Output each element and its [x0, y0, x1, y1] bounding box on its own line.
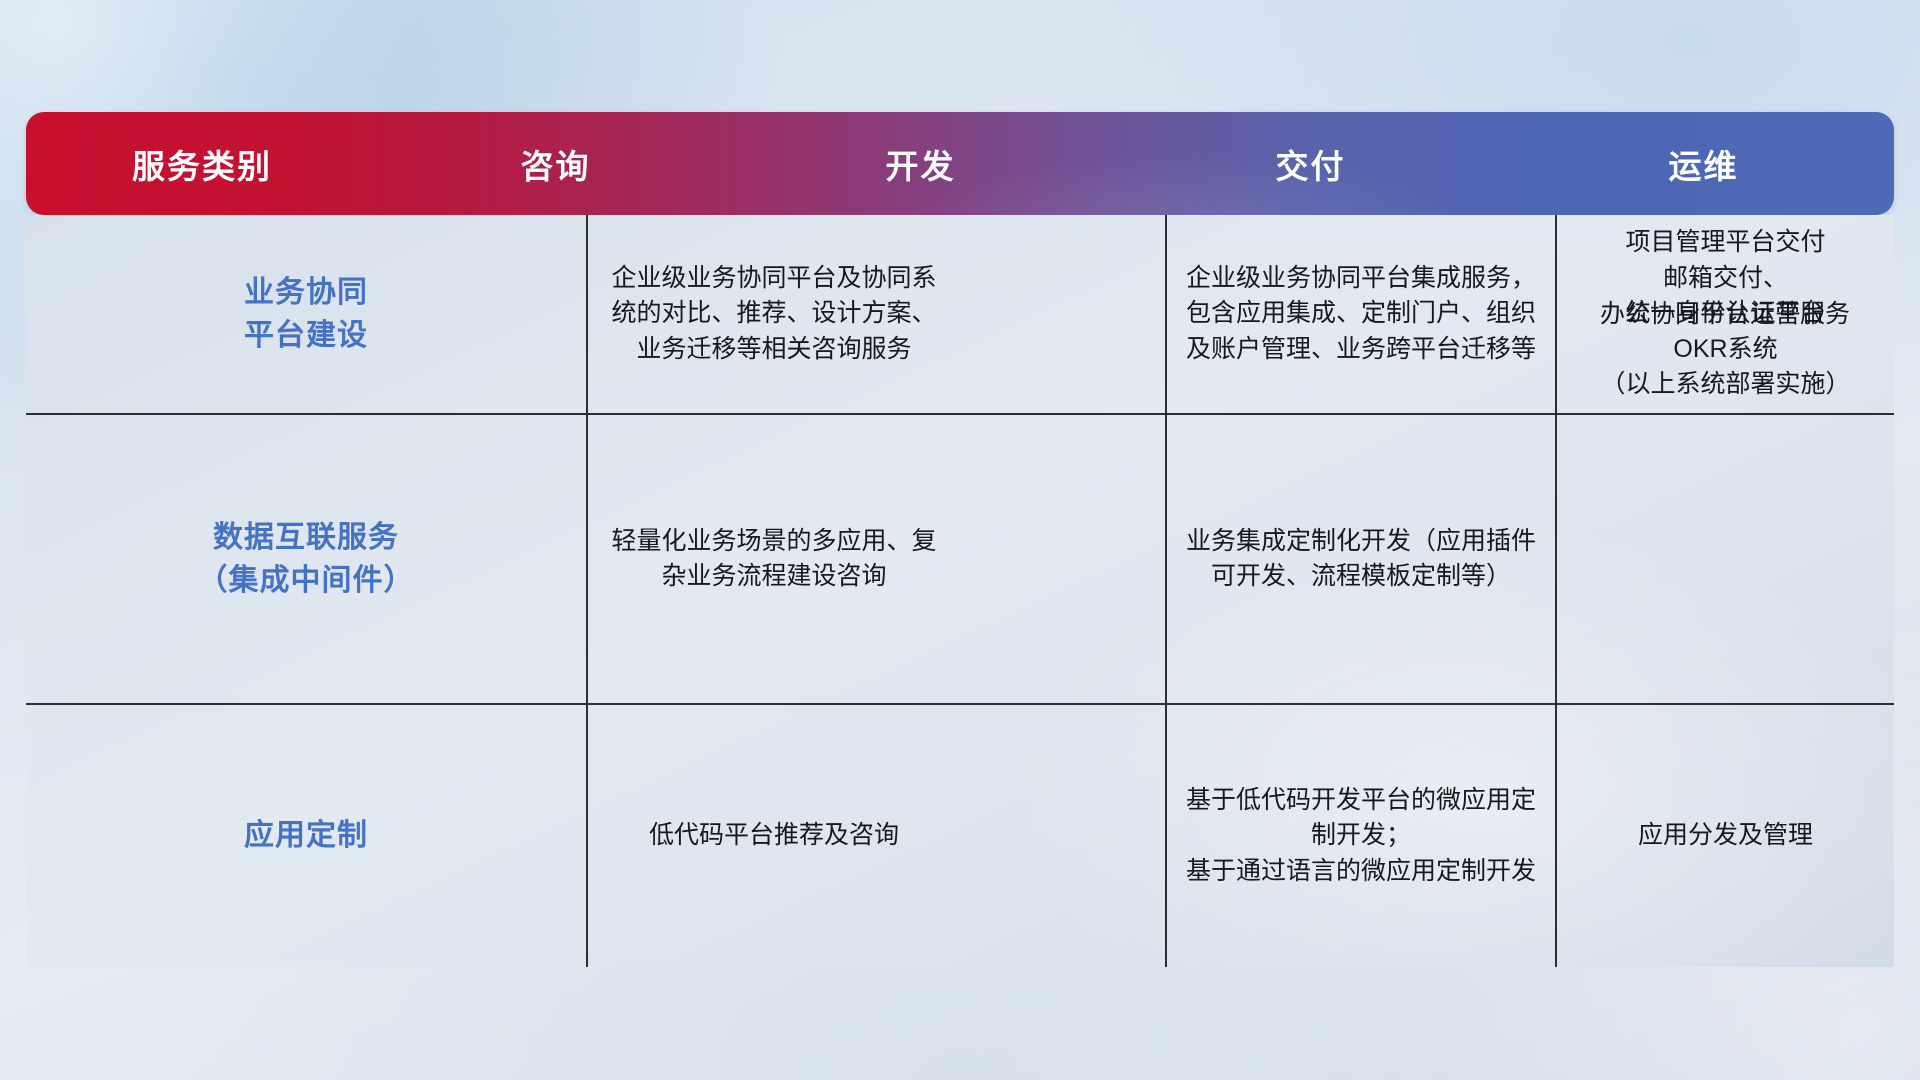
- table-header-row: 服务类别 咨询 开发 交付 运维: [26, 112, 1894, 215]
- row-category-label: 数据互联服务 （集成中间件）: [26, 415, 586, 703]
- column-header-consulting: 咨询: [378, 140, 733, 188]
- slide-canvas: 服务类别 咨询 开发 交付 运维 业务协同 平台建设 企业级业务协同平台及协同系…: [0, 0, 1920, 1080]
- row-category-label: 应用定制: [26, 705, 586, 967]
- cell-development: 业务集成定制化开发（应用插件 可开发、流程模板定制等）: [1165, 415, 1555, 703]
- column-header-operations: 运维: [1513, 140, 1894, 188]
- cell-development-spacer: [960, 705, 1165, 967]
- cell-development: 基于低代码开发平台的微应用定 制开发； 基于通过语言的微应用定制开发: [1165, 705, 1555, 967]
- cell-development: 企业级业务协同平台集成服务， 包含应用集成、定制门户、组织 及账户管理、业务跨平…: [1165, 215, 1555, 413]
- cell-operations: 办公协同平台运营服务: [1556, 215, 1894, 415]
- cell-operations: [1556, 705, 1894, 967]
- cell-consulting: 低代码平台推荐及咨询: [586, 705, 960, 967]
- cell-consulting: 企业级业务协同平台及协同系 统的对比、推荐、设计方案、 业务迁移等相关咨询服务: [586, 215, 960, 413]
- cell-consulting: 轻量化业务场景的多应用、复 杂业务流程建设咨询: [586, 415, 960, 703]
- column-header-development: 开发: [733, 140, 1108, 188]
- row-category-label: 业务协同 平台建设: [26, 215, 586, 413]
- cell-development-spacer: [960, 415, 1165, 703]
- cell-operations: [1556, 415, 1894, 705]
- column-header-delivery: 交付: [1108, 140, 1513, 188]
- service-matrix-table: 服务类别 咨询 开发 交付 运维 业务协同 平台建设 企业级业务协同平台及协同系…: [26, 112, 1894, 967]
- cell-development-spacer: [960, 215, 1165, 413]
- column-header-category: 服务类别: [26, 140, 378, 188]
